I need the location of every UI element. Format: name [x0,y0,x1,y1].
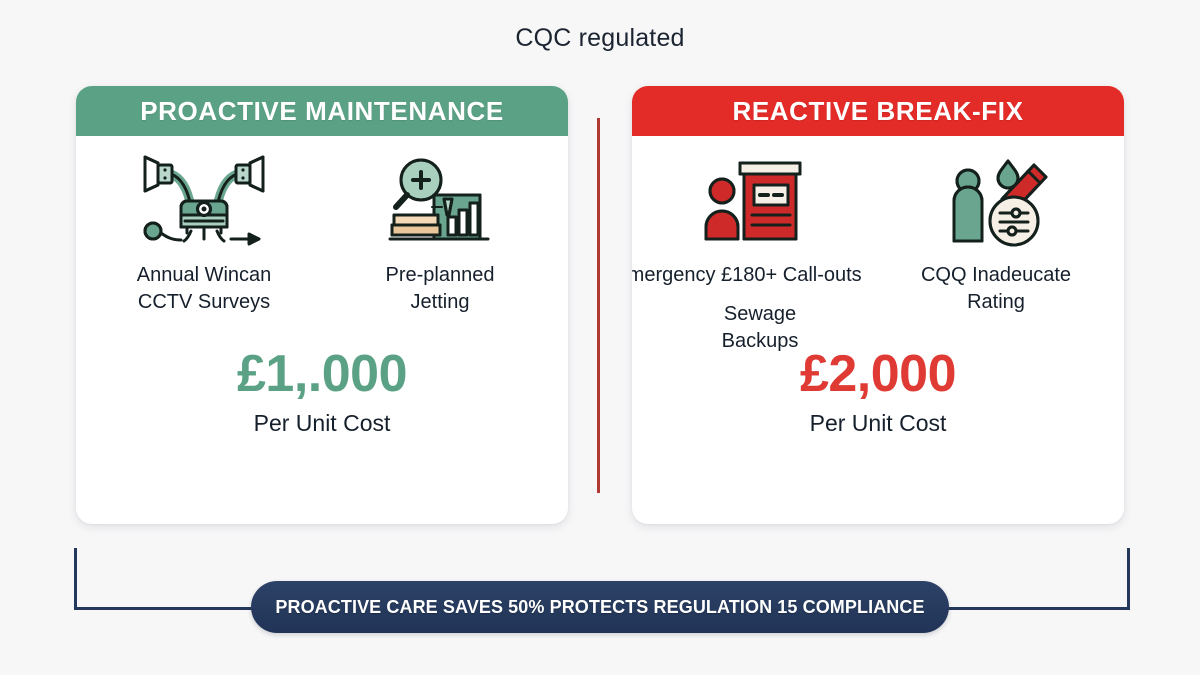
cctv-crawler-robot-icon [139,154,269,250]
card-header-reactive: REACTIVE BREAK-FIX [632,86,1124,136]
reactive-price: £2,000 [632,348,1124,400]
reactive-item-sewage: Emergency £180+ Call-outs Sewage Backups [642,154,878,355]
caption-line-1: Pre-planned [386,264,495,286]
proactive-item-cctv: Annual Wincan CCTV Surveys [86,154,322,316]
proactive-item-cctv-caption: Annual Wincan CCTV Surveys [137,262,272,316]
caption-line-2: Rating [967,291,1025,313]
reactive-break-fix-card: REACTIVE BREAK-FIX [632,86,1124,524]
reactive-item-rating-caption: CQQ Inadeucate Rating [921,262,1071,316]
proactive-price: £1,.000 [76,348,568,400]
proactive-maintenance-card: PROACTIVE MAINTENANCE [76,86,568,524]
bracket-leg-left [74,548,77,610]
proactive-price-block: £1,.000 Per Unit Cost [76,348,568,437]
proactive-item-jetting: Pre-planned Jetting [322,154,558,316]
caption-line-1: Annual Wincan [137,264,272,286]
proactive-price-label: Per Unit Cost [76,410,568,437]
caption-line-2: CCTV Surveys [138,291,270,313]
magnifier-plus-chart-icon [388,154,492,250]
reactive-price-block: £2,000 Per Unit Cost [632,348,1124,437]
reactive-item-columns: Emergency £180+ Call-outs Sewage Backups [632,136,1124,355]
card-body-proactive: Annual Wincan CCTV Surveys [76,136,568,524]
bracket-leg-right [1127,548,1130,610]
person-emergency-machine-icon [704,154,816,250]
reactive-item-rating: CQQ Inadeucate Rating [878,154,1114,316]
card-header-proactive: PROACTIVE MAINTENANCE [76,86,568,136]
card-header-label: PROACTIVE MAINTENANCE [140,96,504,127]
reactive-price-label: Per Unit Cost [632,410,1124,437]
proactive-item-columns: Annual Wincan CCTV Surveys [76,136,568,316]
card-body-reactive: Emergency £180+ Call-outs Sewage Backups [632,136,1124,524]
page-title: CQC regulated [0,24,1200,53]
summary-banner: PROACTIVE CARE SAVES 50% PROTECTS REGULA… [251,581,949,633]
caption-line-1: CQQ Inadeucate [921,264,1071,286]
caption-line-1: Emergency £180+ Call-outs [632,264,862,286]
reactive-item-sewage-caption: Sewage Backups [722,301,799,355]
summary-banner-label: PROACTIVE CARE SAVES 50% PROTECTS REGULA… [275,597,924,618]
caption-line-2: Sewage [724,303,796,325]
proactive-item-jetting-caption: Pre-planned Jetting [386,262,495,316]
caption-line-2: Jetting [411,291,470,313]
card-header-label: REACTIVE BREAK-FIX [732,96,1023,127]
person-rating-badge-icon [942,154,1050,250]
center-divider [597,118,600,493]
reactive-item-emergency-caption: Emergency £180+ Call-outs [632,262,862,289]
